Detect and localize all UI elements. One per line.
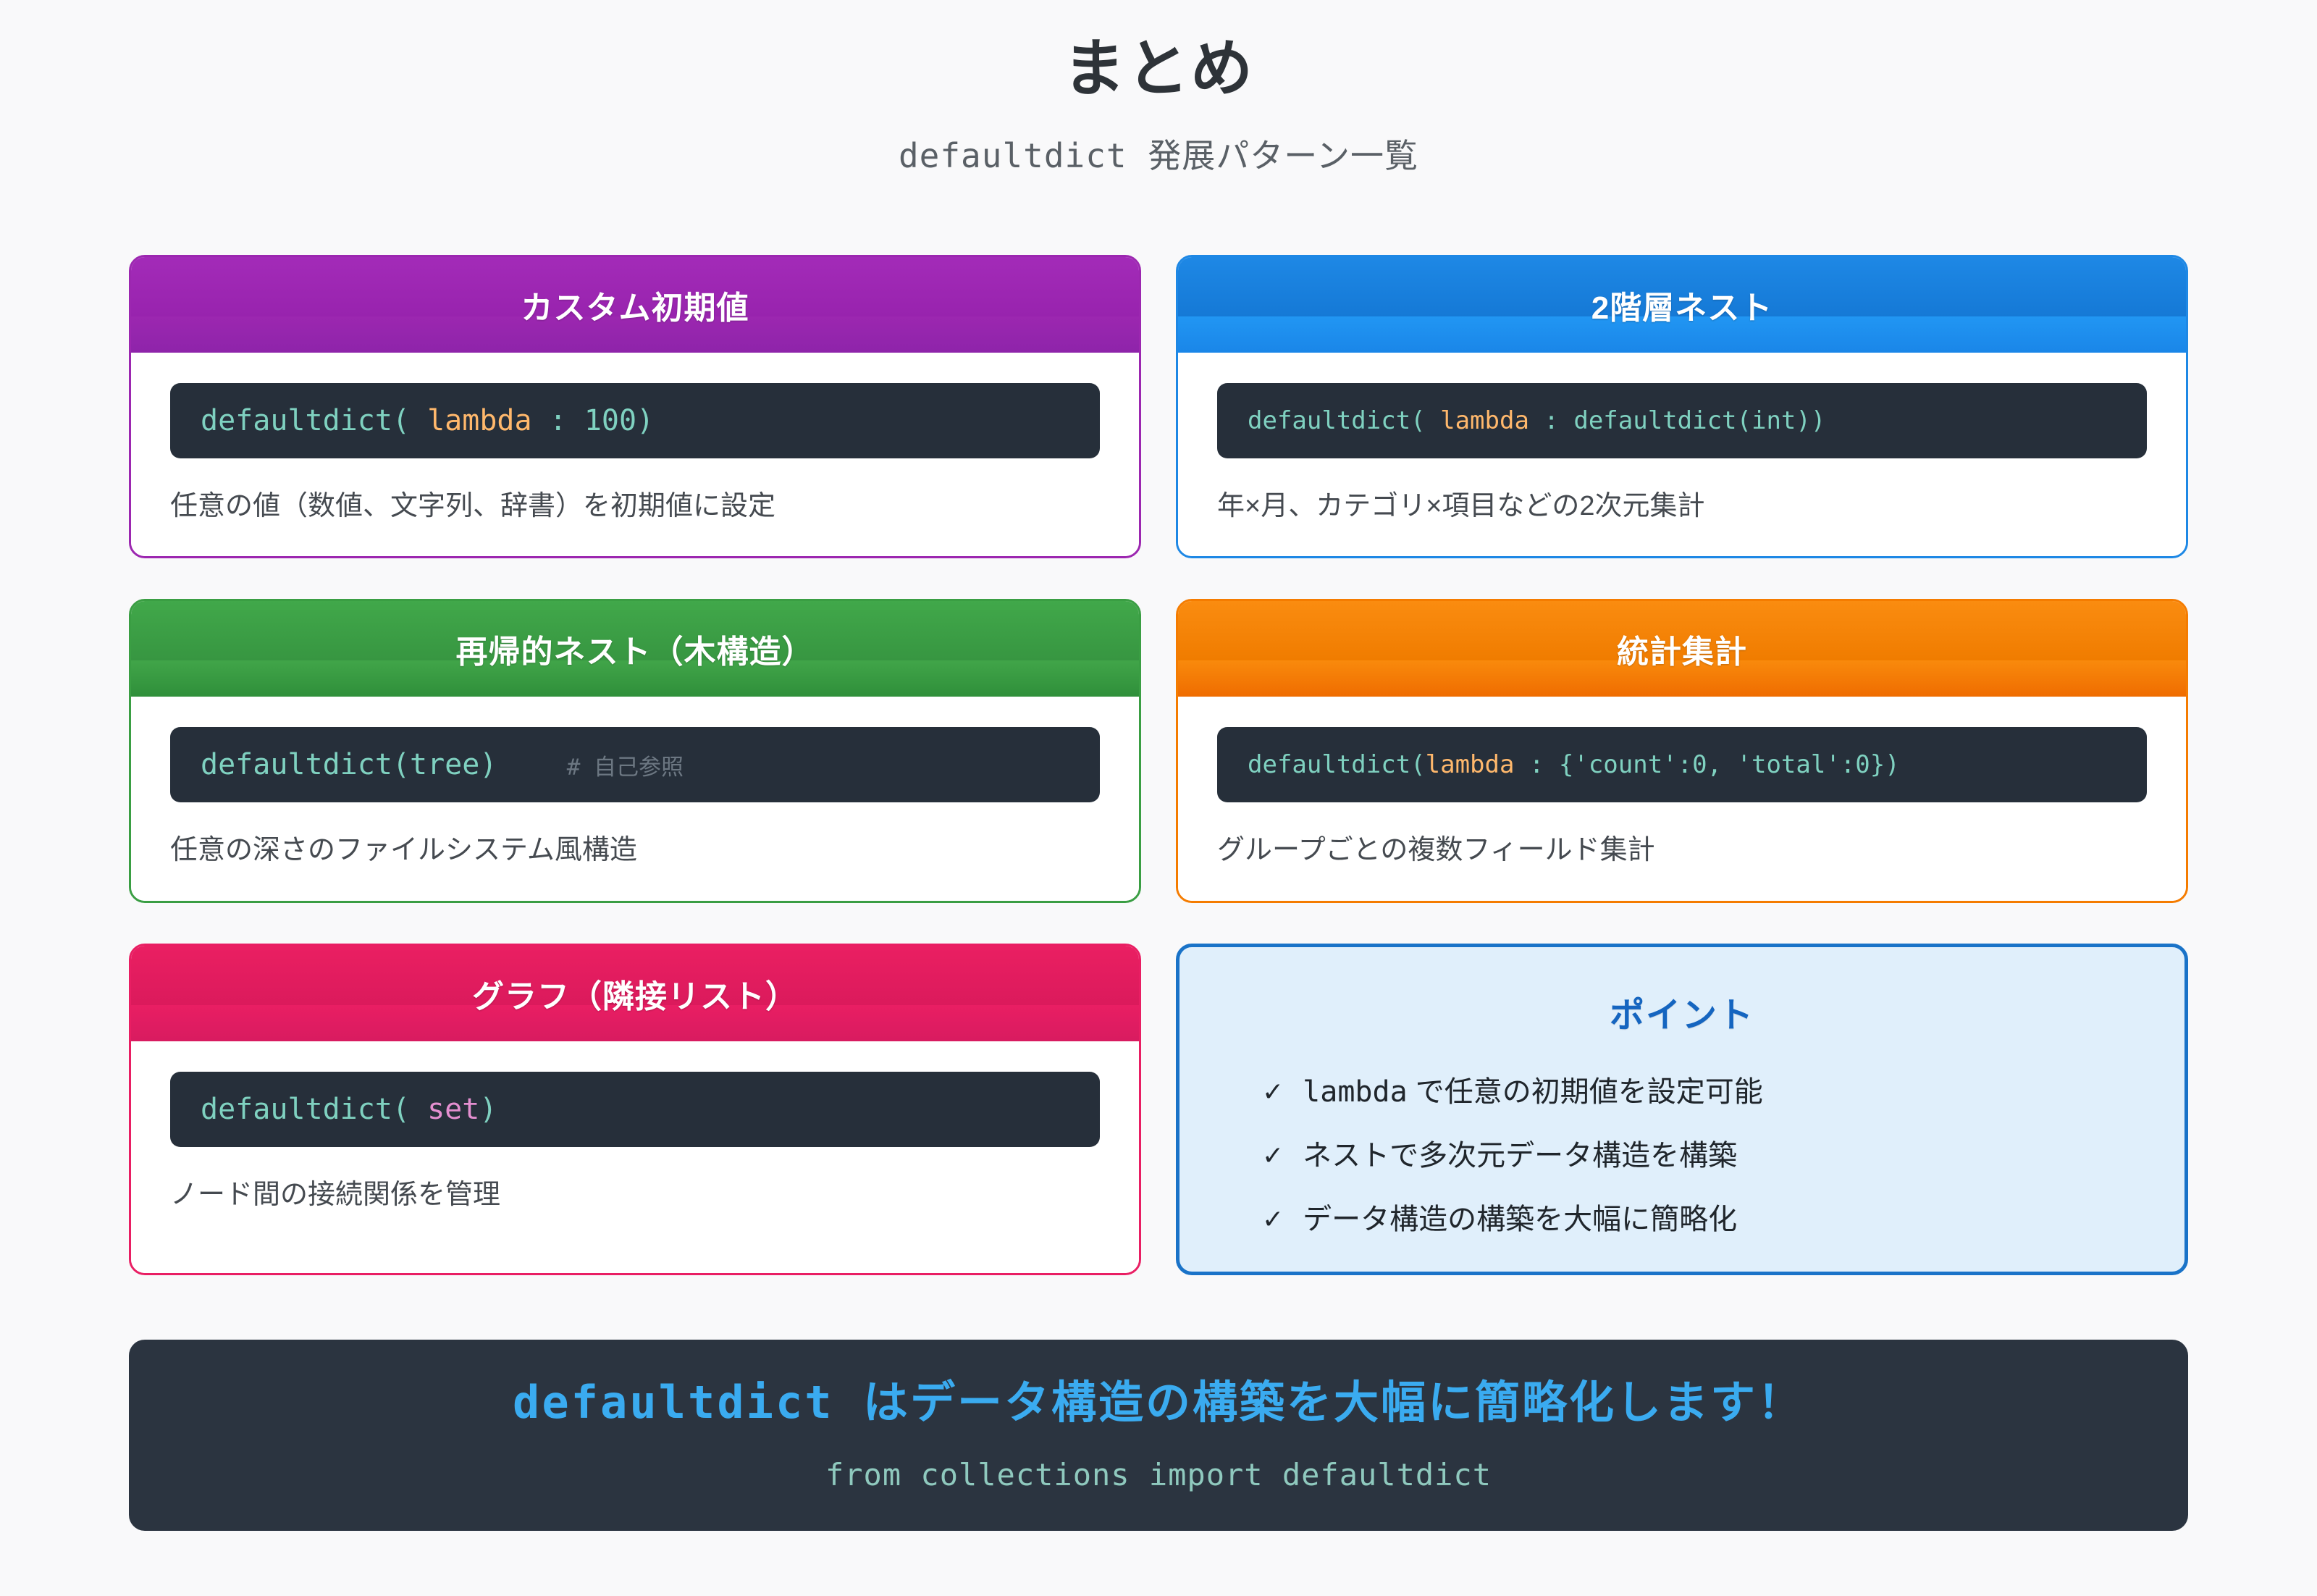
code-snippet: defaultdict( lambda : defaultdict(int)) [1217, 383, 2147, 458]
code-token-fn: defaultdict( [1248, 750, 1426, 779]
point-text: データ構造の構築を大幅に簡略化 [1303, 1202, 1737, 1237]
card-body: defaultdict(tree) # 自己参照 任意の深さのファイルシステム風… [131, 697, 1139, 900]
code-token-fn: defaultdict(tree) [201, 748, 497, 781]
code-token-fn: ) [479, 1093, 497, 1126]
card-description: ノード間の接続関係を管理 [170, 1177, 1100, 1213]
points-list: ✓ lambda で任意の初期値を設定可能 ✓ ネストで多次元データ構造を構築 … [1230, 1075, 2134, 1237]
card-body: defaultdict( lambda : defaultdict(int)) … [1178, 353, 2186, 556]
slide-root: まとめ defaultdict 発展パターン一覧 カスタム初期値 default… [0, 0, 2317, 1596]
pattern-card-grid: カスタム初期値 defaultdict( lambda : 100) 任意の値（… [129, 255, 2188, 1275]
pattern-card-custom-default[interactable]: カスタム初期値 defaultdict( lambda : 100) 任意の値（… [129, 255, 1141, 558]
code-token-fn: defaultdict( [201, 1093, 427, 1126]
code-token-fn: defaultdict( [201, 404, 427, 437]
code-token-keyword: lambda [1440, 406, 1529, 435]
points-panel: ポイント ✓ lambda で任意の初期値を設定可能 ✓ ネストで多次元データ構… [1176, 944, 2188, 1275]
card-description: 任意の値（数値、文字列、辞書）を初期値に設定 [170, 489, 1100, 524]
card-description: 年×月、カテゴリ×項目などの2次元集計 [1217, 489, 2147, 524]
code-snippet: defaultdict( set) [170, 1072, 1100, 1147]
point-text: ネストで多次元データ構造を構築 [1303, 1138, 1737, 1173]
banner-headline: defaultdict はデータ構造の構築を大幅に簡略化します！ [513, 1378, 1804, 1427]
code-token-fn: : 100) [532, 404, 655, 437]
page-title: まとめ [0, 0, 2317, 104]
card-body: defaultdict( set) ノード間の接続関係を管理 [131, 1041, 1139, 1273]
page-subtitle: defaultdict 発展パターン一覧 [0, 104, 2317, 177]
card-header: 再帰的ネスト（木構造） [131, 601, 1139, 697]
card-description: グループごとの複数フィールド集計 [1217, 833, 2147, 868]
summary-banner: defaultdict はデータ構造の構築を大幅に簡略化します！ from co… [129, 1340, 2188, 1531]
pattern-card-graph-adjacency[interactable]: グラフ（隣接リスト） defaultdict( set) ノード間の接続関係を管… [129, 944, 1141, 1275]
code-token-fn: : {'count':0, 'total':0}) [1514, 750, 1899, 779]
code-snippet: defaultdict( lambda : 100) [170, 383, 1100, 458]
card-header: 統計集計 [1178, 601, 2186, 697]
point-mono-token: lambda [1303, 1075, 1408, 1109]
points-title: ポイント [1230, 986, 2134, 1037]
point-rest: で任意の初期値を設定可能 [1408, 1076, 1763, 1108]
card-body: defaultdict( lambda : 100) 任意の値（数値、文字列、辞… [131, 353, 1139, 556]
card-description: 任意の深さのファイルシステム風構造 [170, 833, 1100, 868]
pattern-card-two-level-nest[interactable]: 2階層ネスト defaultdict( lambda : defaultdict… [1176, 255, 2188, 558]
code-token-keyword: lambda [1426, 750, 1515, 779]
point-text: lambda で任意の初期値を設定可能 [1303, 1075, 1763, 1109]
card-body: defaultdict(lambda : {'count':0, 'total'… [1178, 697, 2186, 900]
code-token-space [497, 748, 566, 781]
pattern-card-statistics[interactable]: 統計集計 defaultdict(lambda : {'count':0, 't… [1176, 599, 2188, 902]
code-token-fn: : defaultdict(int)) [1529, 406, 1825, 435]
code-token-fn: defaultdict( [1248, 406, 1440, 435]
check-icon: ✓ [1262, 1079, 1284, 1105]
card-header: グラフ（隣接リスト） [131, 946, 1139, 1041]
card-header: カスタム初期値 [131, 257, 1139, 353]
code-token-builtin: set [427, 1093, 479, 1126]
list-item: ✓ ネストで多次元データ構造を構築 [1262, 1138, 2134, 1173]
banner-import-statement: from collections import defaultdict [825, 1457, 1492, 1492]
code-token-comment: # 自己参照 [567, 749, 684, 781]
card-header: 2階層ネスト [1178, 257, 2186, 353]
check-icon: ✓ [1262, 1143, 1284, 1169]
list-item: ✓ lambda で任意の初期値を設定可能 [1262, 1075, 2134, 1109]
list-item: ✓ データ構造の構築を大幅に簡略化 [1262, 1202, 2134, 1237]
pattern-card-recursive-nest[interactable]: 再帰的ネスト（木構造） defaultdict(tree) # 自己参照 任意の… [129, 599, 1141, 902]
code-token-keyword: lambda [427, 404, 532, 437]
code-snippet: defaultdict(tree) # 自己参照 [170, 727, 1100, 802]
check-icon: ✓ [1262, 1206, 1284, 1232]
code-snippet: defaultdict(lambda : {'count':0, 'total'… [1217, 727, 2147, 802]
